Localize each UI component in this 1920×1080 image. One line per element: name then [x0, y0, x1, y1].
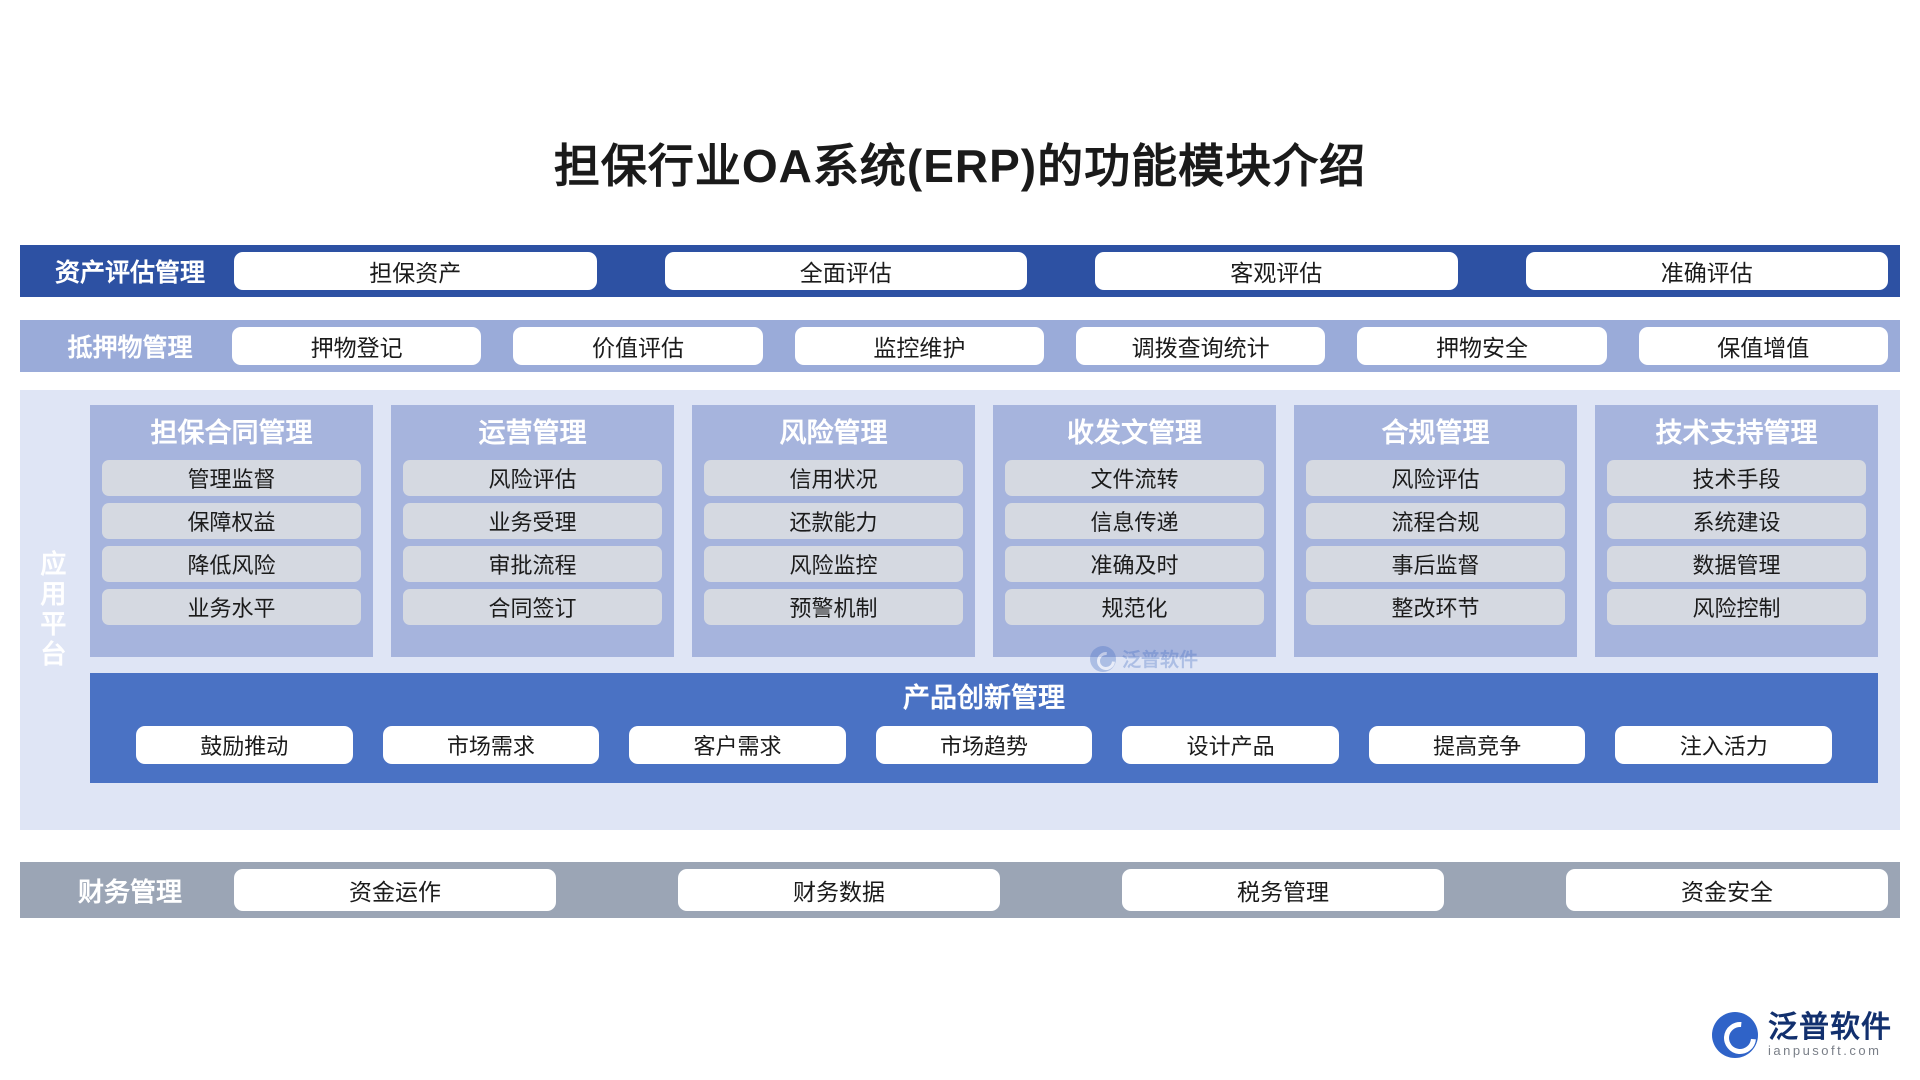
- column-item[interactable]: 数据管理: [1607, 546, 1866, 582]
- column-items: 信用状况 还款能力 风险监控 预警机制: [704, 460, 963, 648]
- column-item[interactable]: 业务水平: [102, 589, 361, 625]
- column-item[interactable]: 信用状况: [704, 460, 963, 496]
- column-item[interactable]: 还款能力: [704, 503, 963, 539]
- innovation-item[interactable]: 市场需求: [383, 726, 600, 764]
- module-column-risk: 风险管理 信用状况 还款能力 风险监控 预警机制: [692, 405, 975, 657]
- asset-item[interactable]: 全面评估: [665, 252, 1028, 290]
- page-title: 担保行业OA系统(ERP)的功能模块介绍: [0, 130, 1920, 196]
- row-asset-evaluation: 资产评估管理 担保资产 全面评估 客观评估 准确评估: [20, 245, 1900, 297]
- column-item[interactable]: 整改环节: [1306, 589, 1565, 625]
- column-title: 风险管理: [704, 413, 963, 454]
- innovation-item[interactable]: 设计产品: [1122, 726, 1339, 764]
- module-column-tech-support: 技术支持管理 技术手段 系统建设 数据管理 风险控制: [1595, 405, 1878, 657]
- column-title: 收发文管理: [1005, 413, 1264, 454]
- module-column-guarantee-contract: 担保合同管理 管理监督 保障权益 降低风险 业务水平: [90, 405, 373, 657]
- platform-body: 担保合同管理 管理监督 保障权益 降低风险 业务水平 运营管理 风险评估 业务受…: [82, 390, 1900, 830]
- row-asset-label: 资产评估管理: [32, 253, 228, 289]
- mortgage-item[interactable]: 监控维护: [795, 327, 1044, 365]
- mortgage-item[interactable]: 押物登记: [232, 327, 481, 365]
- column-item[interactable]: 信息传递: [1005, 503, 1264, 539]
- column-title: 技术支持管理: [1607, 413, 1866, 454]
- column-title: 合规管理: [1306, 413, 1565, 454]
- column-item[interactable]: 流程合规: [1306, 503, 1565, 539]
- column-item[interactable]: 预警机制: [704, 589, 963, 625]
- mortgage-item[interactable]: 押物安全: [1357, 327, 1606, 365]
- column-item[interactable]: 风险控制: [1607, 589, 1866, 625]
- module-column-compliance: 合规管理 风险评估 流程合规 事后监督 整改环节: [1294, 405, 1577, 657]
- row-mortgage-label: 抵押物管理: [32, 328, 228, 364]
- innovation-item[interactable]: 注入活力: [1615, 726, 1832, 764]
- column-item[interactable]: 技术手段: [1607, 460, 1866, 496]
- column-item[interactable]: 准确及时: [1005, 546, 1264, 582]
- brand-logo: 泛普软件 ianpusoft.com: [1712, 1012, 1892, 1058]
- mortgage-item[interactable]: 保值增值: [1639, 327, 1888, 365]
- diagram-canvas: 担保行业OA系统(ERP)的功能模块介绍 资产评估管理 担保资产 全面评估 客观…: [0, 0, 1920, 1080]
- row-asset-items: 担保资产 全面评估 客观评估 准确评估: [228, 252, 1888, 290]
- column-item[interactable]: 事后监督: [1306, 546, 1565, 582]
- column-title: 运营管理: [403, 413, 662, 454]
- column-items: 风险评估 业务受理 审批流程 合同签订: [403, 460, 662, 648]
- column-item[interactable]: 风险评估: [403, 460, 662, 496]
- row-mortgage-management: 抵押物管理 押物登记 价值评估 监控维护 调拨查询统计 押物安全 保值增值: [20, 320, 1900, 372]
- column-item[interactable]: 规范化: [1005, 589, 1264, 625]
- finance-item[interactable]: 税务管理: [1122, 869, 1444, 911]
- row-finance-management: 财务管理 资金运作 财务数据 税务管理 资金安全: [20, 862, 1900, 918]
- column-items: 风险评估 流程合规 事后监督 整改环节: [1306, 460, 1565, 648]
- column-item[interactable]: 业务受理: [403, 503, 662, 539]
- swirl-icon: [1712, 1012, 1758, 1058]
- module-column-document: 收发文管理 文件流转 信息传递 准确及时 规范化: [993, 405, 1276, 657]
- row-mortgage-items: 押物登记 价值评估 监控维护 调拨查询统计 押物安全 保值增值: [228, 327, 1888, 365]
- finance-item[interactable]: 财务数据: [678, 869, 1000, 911]
- module-columns: 担保合同管理 管理监督 保障权益 降低风险 业务水平 运营管理 风险评估 业务受…: [90, 405, 1878, 657]
- innovation-item[interactable]: 提高竞争: [1369, 726, 1586, 764]
- mortgage-item[interactable]: 调拨查询统计: [1076, 327, 1325, 365]
- column-item[interactable]: 文件流转: [1005, 460, 1264, 496]
- innovation-items: 鼓励推动 市场需求 客户需求 市场趋势 设计产品 提高竞争 注入活力: [104, 718, 1864, 771]
- finance-item[interactable]: 资金运作: [234, 869, 556, 911]
- column-items: 技术手段 系统建设 数据管理 风险控制: [1607, 460, 1866, 648]
- innovation-item[interactable]: 鼓励推动: [136, 726, 353, 764]
- asset-item[interactable]: 客观评估: [1095, 252, 1458, 290]
- column-item[interactable]: 保障权益: [102, 503, 361, 539]
- column-title: 担保合同管理: [102, 413, 361, 454]
- column-item[interactable]: 合同签订: [403, 589, 662, 625]
- product-innovation-panel: 产品创新管理 鼓励推动 市场需求 客户需求 市场趋势 设计产品 提高竞争 注入活…: [90, 673, 1878, 783]
- column-item[interactable]: 风险监控: [704, 546, 963, 582]
- column-item[interactable]: 风险评估: [1306, 460, 1565, 496]
- innovation-item[interactable]: 客户需求: [629, 726, 846, 764]
- asset-item[interactable]: 准确评估: [1526, 252, 1889, 290]
- finance-item[interactable]: 资金安全: [1566, 869, 1888, 911]
- innovation-title: 产品创新管理: [104, 679, 1864, 718]
- logo-words: 泛普软件 ianpusoft.com: [1768, 1012, 1892, 1057]
- application-platform-panel: 应用平台 担保合同管理 管理监督 保障权益 降低风险 业务水平 运营管理 风险评…: [20, 390, 1900, 830]
- row-finance-label: 财务管理: [32, 872, 228, 909]
- row-finance-items: 资金运作 财务数据 税务管理 资金安全: [228, 869, 1888, 911]
- column-item[interactable]: 管理监督: [102, 460, 361, 496]
- column-item[interactable]: 系统建设: [1607, 503, 1866, 539]
- logo-name-cn: 泛普软件: [1768, 1012, 1892, 1044]
- mortgage-item[interactable]: 价值评估: [513, 327, 762, 365]
- module-column-operations: 运营管理 风险评估 业务受理 审批流程 合同签订: [391, 405, 674, 657]
- asset-item[interactable]: 担保资产: [234, 252, 597, 290]
- column-items: 文件流转 信息传递 准确及时 规范化: [1005, 460, 1264, 648]
- column-item[interactable]: 降低风险: [102, 546, 361, 582]
- innovation-item[interactable]: 市场趋势: [876, 726, 1093, 764]
- column-item[interactable]: 审批流程: [403, 546, 662, 582]
- column-items: 管理监督 保障权益 降低风险 业务水平: [102, 460, 361, 648]
- logo-name-en: ianpusoft.com: [1768, 1044, 1892, 1058]
- platform-label: 应用平台: [20, 390, 82, 830]
